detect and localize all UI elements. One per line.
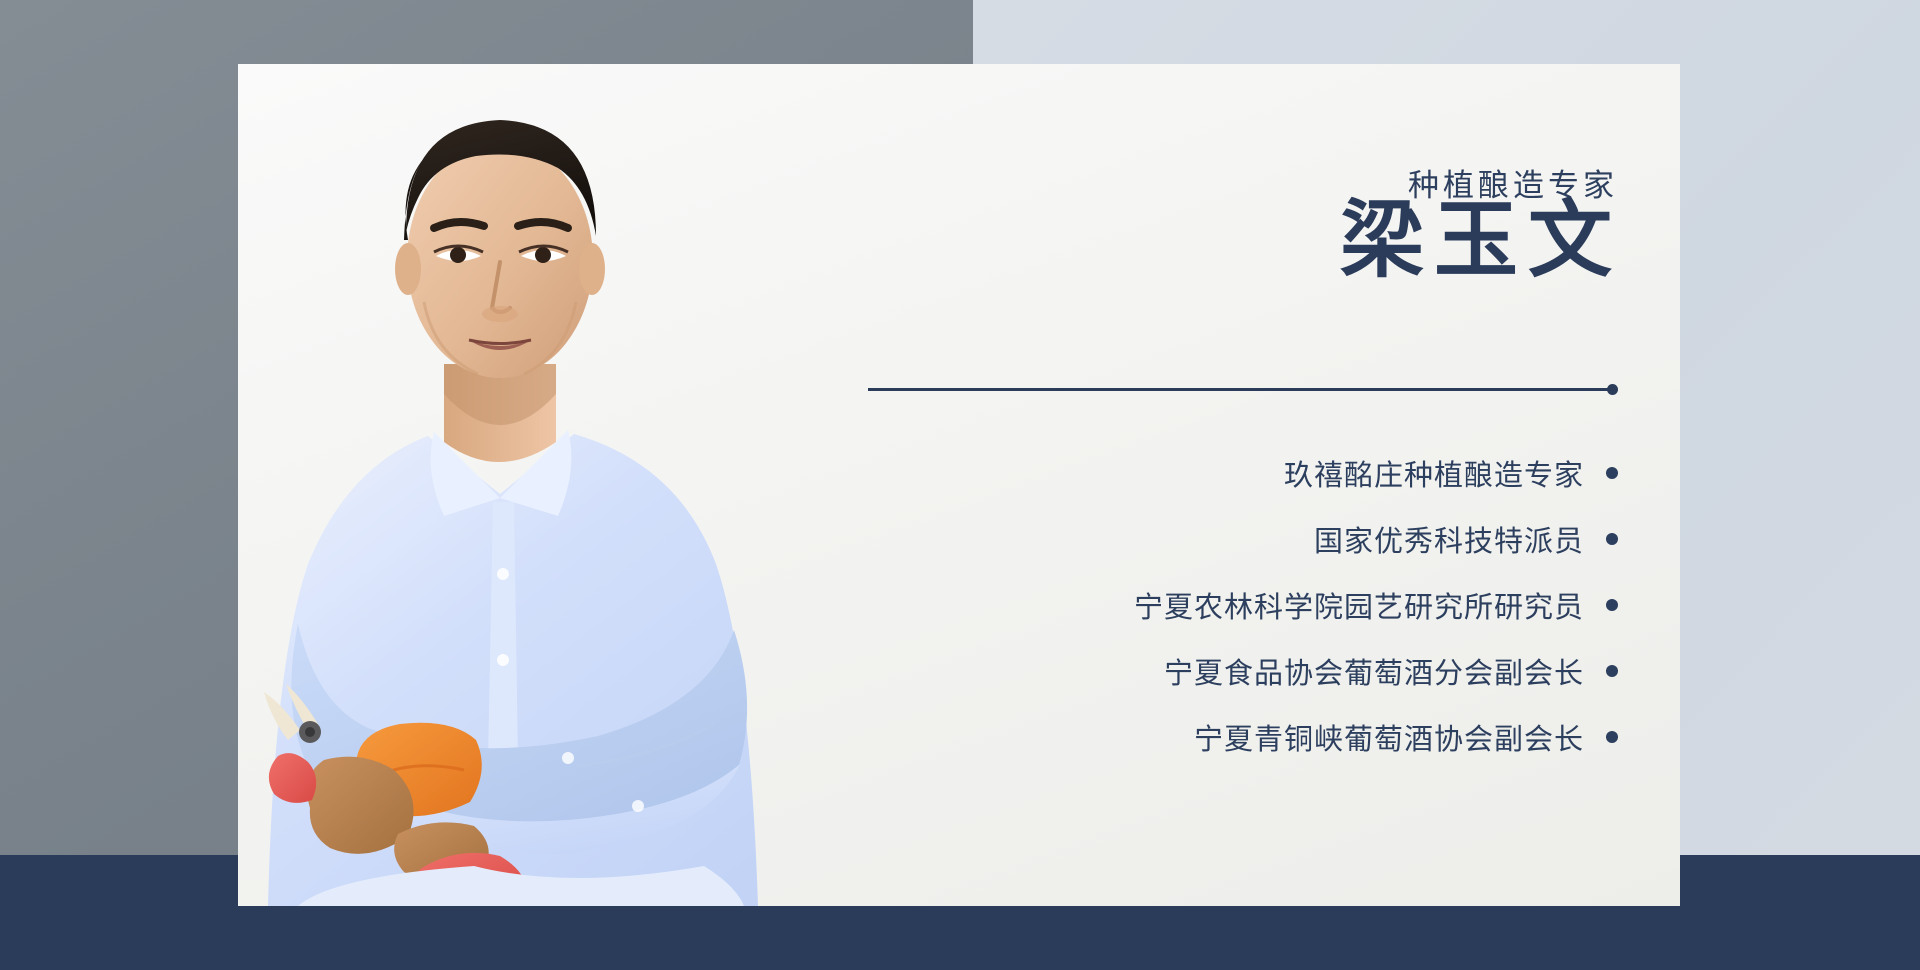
credential-label: 宁夏青铜峡葡萄酒协会副会长 <box>1194 716 1584 758</box>
credentials-list: 玖禧酩庄种植酿造专家 国家优秀科技特派员 宁夏农林科学院园艺研究所研究员 宁夏食… <box>928 446 1618 776</box>
list-item: 国家优秀科技特派员 <box>928 512 1618 566</box>
profile-text-column: 种植酿造专家 梁玉文 玖禧酩庄种植酿造专家 国家优秀科技特派员 宁夏农林科学院园… <box>938 64 1680 906</box>
credential-label: 国家优秀科技特派员 <box>1314 518 1584 560</box>
bullet-dot-icon <box>1606 731 1618 743</box>
profile-name: 梁玉文 <box>1340 197 1622 288</box>
bullet-dot-icon <box>1606 665 1618 677</box>
bullet-dot-icon <box>1606 533 1618 545</box>
profile-card: 种植酿造专家 梁玉文 玖禧酩庄种植酿造专家 国家优秀科技特派员 宁夏农林科学院园… <box>238 64 1680 906</box>
bullet-dot-icon <box>1606 467 1618 479</box>
divider <box>868 384 1618 396</box>
list-item: 宁夏农林科学院园艺研究所研究员 <box>928 578 1618 632</box>
portrait-photo <box>238 64 858 906</box>
profile-banner: 种植酿造专家 梁玉文 玖禧酩庄种植酿造专家 国家优秀科技特派员 宁夏农林科学院园… <box>0 0 1920 970</box>
credential-label: 玖禧酩庄种植酿造专家 <box>1284 452 1584 494</box>
divider-line <box>868 388 1608 391</box>
list-item: 宁夏食品协会葡萄酒分会副会长 <box>928 644 1618 698</box>
divider-end-dot <box>1607 384 1618 395</box>
bullet-dot-icon <box>1606 599 1618 611</box>
credential-label: 宁夏农林科学院园艺研究所研究员 <box>1134 584 1584 626</box>
credential-label: 宁夏食品协会葡萄酒分会副会长 <box>1164 650 1584 692</box>
list-item: 玖禧酩庄种植酿造专家 <box>928 446 1618 500</box>
list-item: 宁夏青铜峡葡萄酒协会副会长 <box>928 710 1618 764</box>
